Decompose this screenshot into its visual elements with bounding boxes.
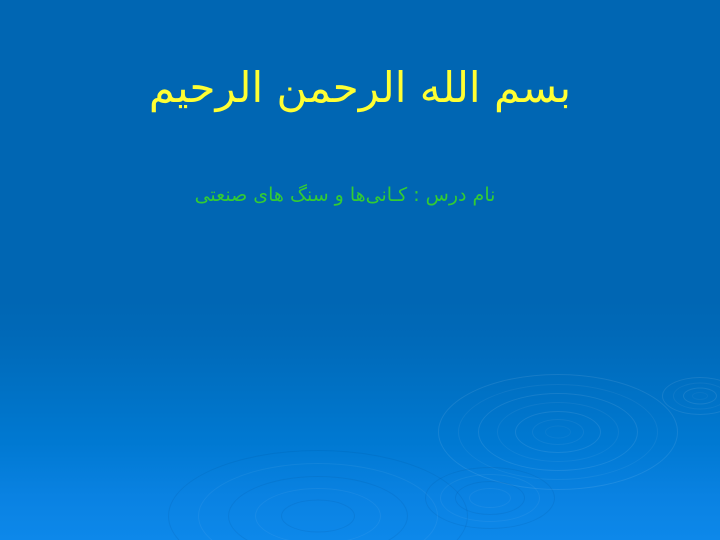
title-placeholder[interactable]: بسم الله الرحمن الرحیم (0, 62, 720, 115)
slide-subtitle[interactable]: نام درس : کـانی‌ها و سنگ های صنعتی (195, 183, 496, 208)
page-title[interactable]: بسم الله الرحمن الرحیم (149, 62, 571, 115)
subtitle-placeholder[interactable]: نام درس : کـانی‌ها و سنگ های صنعتی (0, 183, 690, 208)
presentation-slide: بسم الله الرحمن الرحیم نام درس : کـانی‌ه… (0, 0, 720, 540)
